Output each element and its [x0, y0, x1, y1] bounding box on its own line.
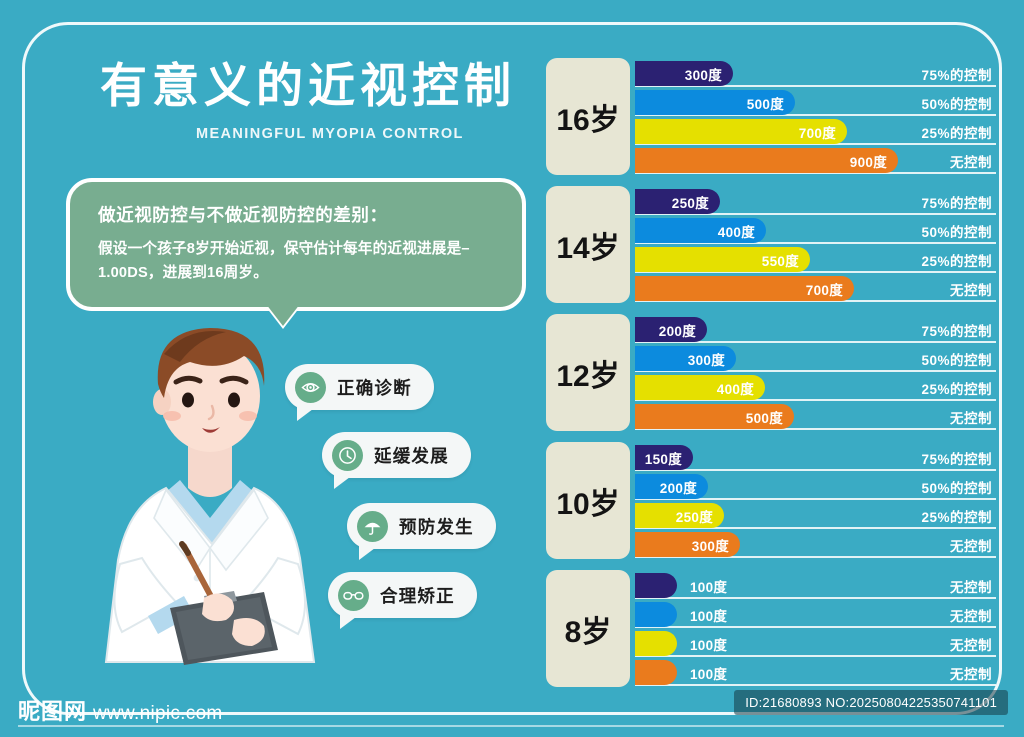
control-level-label: 50%的控制 — [921, 93, 992, 113]
age-group: 16岁300度75%的控制500度50%的控制700度25%的控制900度无控制 — [546, 58, 996, 175]
control-level-label: 75%的控制 — [921, 64, 992, 84]
bubble-tail — [340, 614, 360, 629]
age-label: 14岁 — [556, 223, 619, 267]
bar-value-label: 400度 — [718, 221, 755, 241]
control-level-label: 无控制 — [950, 605, 992, 625]
bar: 150度 — [635, 445, 693, 470]
bar-row: 300度50%的控制 — [635, 345, 996, 372]
bar-row: 250度75%的控制 — [635, 188, 996, 215]
bar — [635, 631, 677, 656]
control-level-label: 无控制 — [950, 151, 992, 171]
bar — [635, 660, 677, 685]
age-card: 14岁 — [546, 186, 630, 303]
control-level-label: 75%的控制 — [921, 448, 992, 468]
bar-rows: 150度75%的控制200度50%的控制250度25%的控制300度无控制 — [635, 444, 996, 560]
watermark-url: www.nipic.com — [93, 704, 223, 723]
bubble-tail — [334, 474, 354, 489]
bar: 200度 — [635, 317, 707, 342]
bar-value-label: 200度 — [660, 477, 697, 497]
control-level-label: 50%的控制 — [921, 221, 992, 241]
feature-bubble-diagnosis[interactable]: 正确诊断 — [285, 364, 434, 410]
bar-value-label: 250度 — [676, 506, 713, 526]
bar-rows: 250度75%的控制400度50%的控制550度25%的控制700度无控制 — [635, 188, 996, 304]
bar: 500度 — [635, 90, 795, 115]
eye-icon — [295, 372, 326, 403]
bar-rows: 200度75%的控制300度50%的控制400度25%的控制500度无控制 — [635, 316, 996, 432]
age-label: 12岁 — [556, 351, 619, 395]
age-label: 8岁 — [565, 607, 612, 651]
bar-row: 200度50%的控制 — [635, 473, 996, 500]
bar-row: 500度无控制 — [635, 403, 996, 430]
bar: 300度 — [635, 61, 733, 86]
row-underline — [635, 655, 996, 657]
control-level-label: 无控制 — [950, 634, 992, 654]
feature-label: 预防发生 — [399, 514, 474, 539]
age-card: 12岁 — [546, 314, 630, 431]
bar-row: 300度75%的控制 — [635, 60, 996, 87]
bar — [635, 602, 677, 627]
callout-bubble: 做近视防控与不做近视防控的差别： 假设一个孩子8岁开始近视，保守估计每年的近视进… — [66, 178, 526, 311]
bar-rows: 300度75%的控制500度50%的控制700度25%的控制900度无控制 — [635, 60, 996, 176]
bar-row: 700度25%的控制 — [635, 118, 996, 145]
row-underline — [635, 626, 996, 628]
age-group: 10岁150度75%的控制200度50%的控制250度25%的控制300度无控制 — [546, 442, 996, 559]
clock-icon — [332, 440, 363, 471]
id-badge: ID:21680893 NO:20250804225350741101 — [734, 690, 1008, 715]
control-level-label: 25%的控制 — [921, 378, 992, 398]
bar-value-label: 900度 — [850, 151, 887, 171]
bar-row: 400度25%的控制 — [635, 374, 996, 401]
bar-value-label: 100度 — [690, 663, 727, 683]
bar-value-label: 700度 — [806, 279, 843, 299]
age-label: 10岁 — [556, 479, 619, 523]
bar-value-label: 250度 — [672, 192, 709, 212]
bar-value-label: 100度 — [690, 634, 727, 654]
age-label: 16岁 — [556, 95, 619, 139]
control-level-label: 无控制 — [950, 535, 992, 555]
bar-row: 300度无控制 — [635, 531, 996, 558]
bar-row: 550度25%的控制 — [635, 246, 996, 273]
bar: 700度 — [635, 119, 847, 144]
bar: 300度 — [635, 532, 740, 557]
control-level-label: 25%的控制 — [921, 250, 992, 270]
bar: 700度 — [635, 276, 854, 301]
feature-label: 延缓发展 — [374, 443, 449, 468]
bar-value-label: 400度 — [717, 378, 754, 398]
callout-heading: 做近视防控与不做近视防控的差别： — [98, 202, 496, 227]
age-card: 16岁 — [546, 58, 630, 175]
bar-value-label: 300度 — [692, 535, 729, 555]
bar-value-label: 300度 — [688, 349, 725, 369]
row-underline — [635, 684, 996, 686]
control-level-label: 无控制 — [950, 407, 992, 427]
bar-row: 100度无控制 — [635, 601, 996, 628]
control-level-label: 无控制 — [950, 576, 992, 596]
age-card: 8岁 — [546, 570, 630, 687]
age-group: 12岁200度75%的控制300度50%的控制400度25%的控制500度无控制 — [546, 314, 996, 431]
bubble-tail — [359, 545, 379, 560]
bar-row: 900度无控制 — [635, 147, 996, 174]
watermark-rule — [18, 725, 1004, 727]
bar-value-label: 550度 — [762, 250, 799, 270]
feature-bubble-prevention[interactable]: 预防发生 — [347, 503, 496, 549]
control-level-label: 25%的控制 — [921, 506, 992, 526]
control-level-label: 无控制 — [950, 279, 992, 299]
control-level-label: 无控制 — [950, 663, 992, 683]
row-underline — [635, 597, 996, 599]
bar: 300度 — [635, 346, 736, 371]
bar-value-label: 100度 — [690, 605, 727, 625]
control-level-label: 50%的控制 — [921, 477, 992, 497]
bar: 900度 — [635, 148, 898, 173]
control-level-label: 25%的控制 — [921, 122, 992, 142]
bar-row: 700度无控制 — [635, 275, 996, 302]
row-underline — [635, 469, 996, 471]
feature-label: 正确诊断 — [337, 375, 412, 400]
control-level-label: 75%的控制 — [921, 192, 992, 212]
feature-label: 合理矫正 — [380, 583, 455, 608]
bar-row: 100度无控制 — [635, 659, 996, 686]
poster-canvas: 有意义的近视控制 MEANINGFUL MYOPIA CONTROL 做近视防控… — [0, 0, 1024, 737]
bar-value-label: 100度 — [690, 576, 727, 596]
page-subtitle: MEANINGFUL MYOPIA CONTROL — [196, 126, 464, 142]
bubble-tail — [297, 406, 317, 421]
myopia-progression-chart: 16岁300度75%的控制500度50%的控制700度25%的控制900度无控制… — [546, 58, 996, 698]
bar-value-label: 200度 — [659, 320, 696, 340]
callout-body: 假设一个孩子8岁开始近视，保守估计每年的近视进展是–1.00DS，进展到16周岁… — [98, 238, 496, 285]
age-group: 8岁100度无控制100度无控制100度无控制100度无控制 — [546, 570, 996, 687]
feature-bubble-correction[interactable]: 合理矫正 — [328, 572, 477, 618]
age-card: 10岁 — [546, 442, 630, 559]
control-level-label: 50%的控制 — [921, 349, 992, 369]
bar: 550度 — [635, 247, 810, 272]
bar-row: 100度无控制 — [635, 630, 996, 657]
bar: 250度 — [635, 503, 724, 528]
bar-row: 150度75%的控制 — [635, 444, 996, 471]
glasses-icon — [338, 580, 369, 611]
age-group: 14岁250度75%的控制400度50%的控制550度25%的控制700度无控制 — [546, 186, 996, 303]
bar: 400度 — [635, 375, 765, 400]
bar-row: 100度无控制 — [635, 572, 996, 599]
bar-row: 500度50%的控制 — [635, 89, 996, 116]
watermark-logo: 昵图网 — [18, 701, 87, 723]
bar-value-label: 150度 — [645, 448, 682, 468]
bar: 250度 — [635, 189, 720, 214]
bar-rows: 100度无控制100度无控制100度无控制100度无控制 — [635, 572, 996, 688]
control-level-label: 75%的控制 — [921, 320, 992, 340]
bar-value-label: 500度 — [746, 407, 783, 427]
bar-row: 250度25%的控制 — [635, 502, 996, 529]
bar-value-label: 300度 — [685, 64, 722, 84]
umbrella-icon — [357, 511, 388, 542]
feature-bubble-slow-progression[interactable]: 延缓发展 — [322, 432, 471, 478]
bar-value-label: 700度 — [799, 122, 836, 142]
bar-row: 200度75%的控制 — [635, 316, 996, 343]
bar: 400度 — [635, 218, 766, 243]
page-title: 有意义的近视控制 — [100, 62, 516, 109]
bar-row: 400度50%的控制 — [635, 217, 996, 244]
bar: 200度 — [635, 474, 708, 499]
bar — [635, 573, 677, 598]
bar: 500度 — [635, 404, 794, 429]
bar-value-label: 500度 — [747, 93, 784, 113]
watermark: 昵图网 www.nipic.com — [18, 701, 223, 723]
